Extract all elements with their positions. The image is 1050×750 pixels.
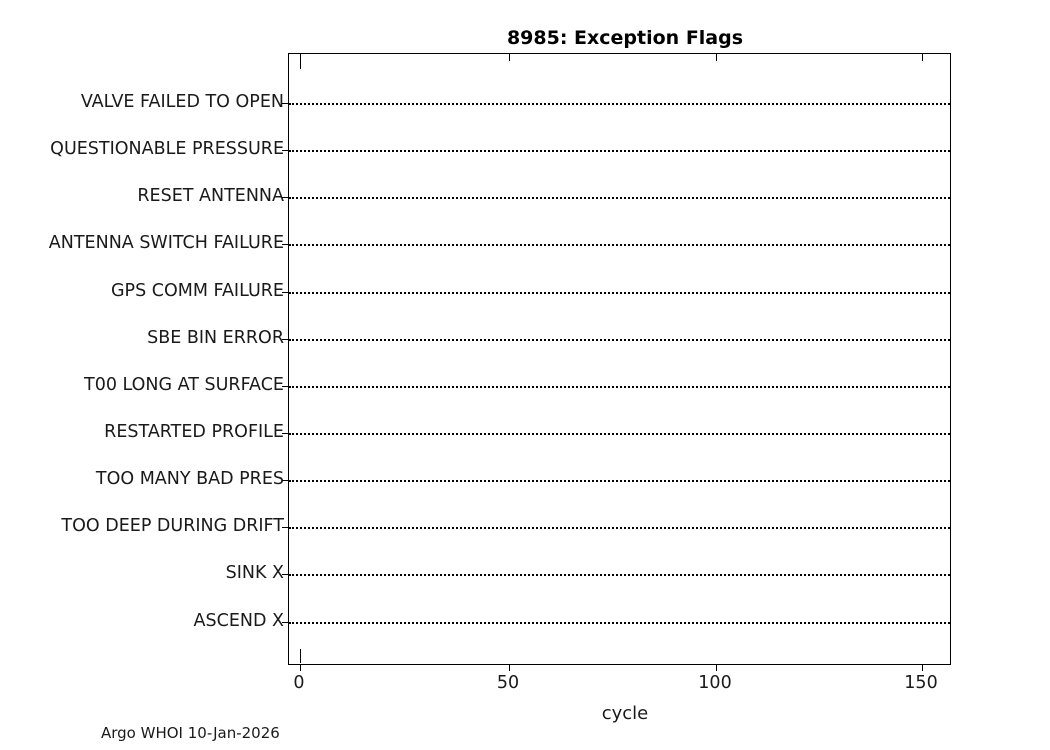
y-axis-tick-mark bbox=[282, 339, 289, 340]
x-axis-label: cycle bbox=[299, 703, 951, 724]
y-axis-tick-mark bbox=[282, 197, 289, 198]
y-axis-tick-label: SINK X bbox=[226, 563, 284, 583]
y-axis-tick-mark bbox=[282, 527, 289, 528]
gridline bbox=[289, 574, 950, 576]
x-axis-tick-mark bbox=[922, 664, 923, 671]
figure-canvas: 8985: Exception Flags VALVE FAILED TO OP… bbox=[0, 0, 1050, 750]
plot-area bbox=[288, 53, 951, 665]
y-axis-tick-mark bbox=[282, 150, 289, 151]
x-axis-tick-mark-top bbox=[716, 54, 717, 61]
gridline bbox=[289, 292, 950, 294]
gridline bbox=[289, 386, 950, 388]
gridline bbox=[289, 480, 950, 482]
y-axis-tick-label: RESTARTED PROFILE bbox=[104, 422, 284, 442]
y-axis-tick-label: RESET ANTENNA bbox=[137, 186, 284, 206]
y-axis-tick-label: VALVE FAILED TO OPEN bbox=[81, 92, 284, 112]
x-axis-tick-mark-top bbox=[922, 54, 923, 61]
y-axis-tick-mark bbox=[282, 574, 289, 575]
y-axis-tick-mark bbox=[282, 244, 289, 245]
y-axis-tick-label: SBE BIN ERROR bbox=[147, 328, 284, 348]
gridline bbox=[289, 150, 950, 152]
y-axis-tick-mark bbox=[282, 103, 289, 104]
gridline bbox=[289, 103, 950, 105]
y-axis-tick-mark bbox=[282, 386, 289, 387]
footer-attribution: Argo WHOI 10-Jan-2026 bbox=[101, 724, 280, 742]
gridline bbox=[289, 244, 950, 246]
gridline bbox=[289, 433, 950, 435]
page-title: 8985: Exception Flags bbox=[299, 27, 951, 49]
y-axis-tick-mark bbox=[282, 622, 289, 623]
x-axis-tick-mark-top bbox=[300, 54, 301, 61]
y-axis-tick-mark bbox=[282, 292, 289, 293]
x-axis-tick-label: 150 bbox=[904, 673, 937, 693]
y-axis-tick-mark bbox=[282, 480, 289, 481]
x-axis-tick-label: 0 bbox=[293, 673, 304, 693]
y-axis-tick-label: ASCEND X bbox=[194, 611, 284, 631]
gridline bbox=[289, 339, 950, 341]
x-axis-tick-label: 100 bbox=[698, 673, 731, 693]
x-axis-tick-mark bbox=[716, 664, 717, 671]
y-axis-tick-mark bbox=[282, 433, 289, 434]
x-axis-tick-mark bbox=[509, 664, 510, 671]
y-axis-tick-label-group: VALVE FAILED TO OPENQUESTIONABLE PRESSUR… bbox=[0, 0, 284, 750]
y-axis-tick-label: TOO MANY BAD PRES bbox=[96, 469, 284, 489]
gridline bbox=[289, 527, 950, 529]
x-axis-tick-mark bbox=[300, 664, 301, 671]
y-axis-tick-label: QUESTIONABLE PRESSURE bbox=[50, 139, 284, 159]
x-axis-tick-mark-top bbox=[509, 54, 510, 61]
gridline bbox=[289, 622, 950, 624]
x-axis-tick-label: 50 bbox=[497, 673, 519, 693]
gridline bbox=[289, 197, 950, 199]
y-axis-tick-label: T00 LONG AT SURFACE bbox=[84, 375, 284, 395]
y-axis-tick-label: TOO DEEP DURING DRIFT bbox=[61, 516, 284, 536]
y-axis-tick-label: GPS COMM FAILURE bbox=[111, 281, 284, 301]
y-axis-tick-label: ANTENNA SWITCH FAILURE bbox=[49, 233, 284, 253]
axis-tick-stub-bottom bbox=[300, 649, 301, 663]
